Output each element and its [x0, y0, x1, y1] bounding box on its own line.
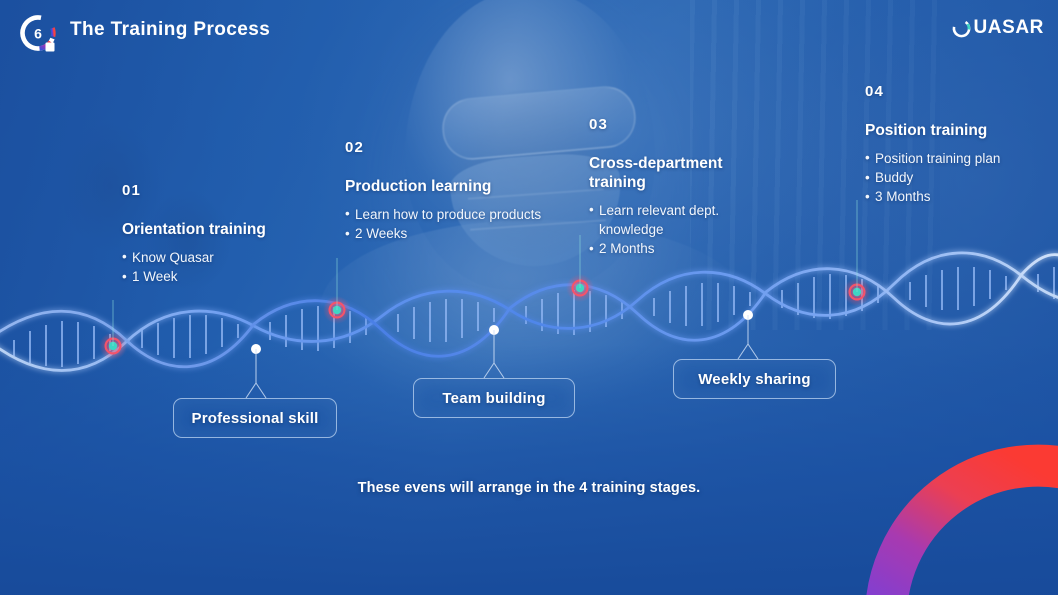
- slide-number-text: 6: [34, 26, 42, 42]
- step-bullet: Position training plan: [865, 149, 1050, 168]
- step-bullet-list: Learn how to produce products 2 Weeks: [345, 205, 560, 243]
- step-title: Production learning: [345, 178, 560, 197]
- step-block-04: 04 Position training Position training p…: [865, 83, 1050, 206]
- step-title: Orientation training: [122, 221, 332, 240]
- step-bullet: Know Quasar: [122, 248, 332, 267]
- step-title: Cross-department training: [589, 155, 759, 193]
- slide-header: 6 The Training Process UASAR: [0, 0, 1058, 62]
- quasar-q-icon: [951, 18, 972, 39]
- step-title: Position training: [865, 122, 1050, 141]
- step-bullet-list: Learn relevant dept. knowledge 2 Months: [589, 201, 759, 258]
- step-bullet-list: Position training plan Buddy 3 Months: [865, 149, 1050, 206]
- step-block-02: 02 Production learning Learn how to prod…: [345, 139, 560, 243]
- page-title: The Training Process: [70, 19, 270, 41]
- step-bullet: 2 Months: [589, 239, 759, 258]
- corner-arc-decoration-icon: [848, 413, 1058, 595]
- callout-professional-skill[interactable]: Professional skill: [173, 398, 337, 438]
- callout-label: Weekly sharing: [698, 371, 811, 388]
- step-bullet: Buddy: [865, 168, 1050, 187]
- step-bullet: Learn relevant dept. knowledge: [589, 201, 759, 239]
- brand-name: UASAR: [973, 17, 1044, 39]
- step-bullet: 2 Weeks: [345, 224, 560, 243]
- step-bullet: Learn how to produce products: [345, 205, 560, 224]
- step-bullet: 1 Week: [122, 267, 332, 286]
- step-block-01: 01 Orientation training Know Quasar 1 We…: [122, 182, 332, 286]
- step-bullet: 3 Months: [865, 187, 1050, 206]
- callout-label: Team building: [442, 390, 545, 407]
- step-number: 01: [122, 182, 332, 199]
- brand-logo: UASAR: [951, 17, 1044, 39]
- callout-team-building[interactable]: Team building: [413, 378, 575, 418]
- numbered-ring-logo-icon: 6: [14, 9, 62, 57]
- callout-label: Professional skill: [192, 410, 319, 427]
- step-bullet-list: Know Quasar 1 Week: [122, 248, 332, 286]
- slide-canvas: 6 The Training Process UASAR: [0, 0, 1058, 595]
- step-block-03: 03 Cross-department training Learn relev…: [589, 116, 759, 258]
- step-number: 04: [865, 83, 1050, 100]
- callout-weekly-sharing[interactable]: Weekly sharing: [673, 359, 836, 399]
- step-number: 03: [589, 116, 759, 133]
- step-number: 02: [345, 139, 560, 156]
